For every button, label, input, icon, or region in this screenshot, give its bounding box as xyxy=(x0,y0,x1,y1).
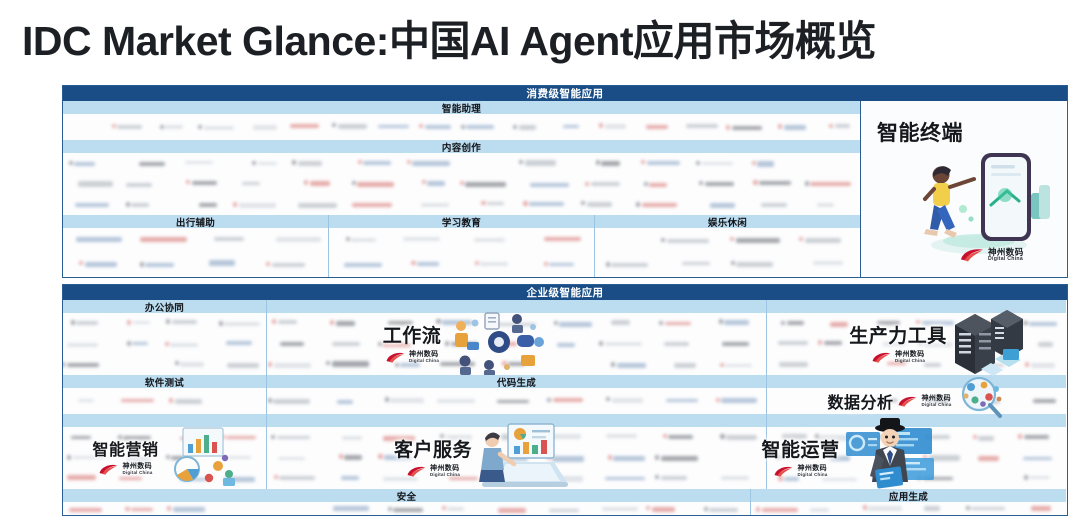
vendor-logo-mark xyxy=(606,397,610,402)
vendor-logo xyxy=(180,362,204,367)
vendor-logo xyxy=(272,263,306,267)
vendor-logo-mark xyxy=(326,361,330,366)
consumer-section-header: 消费级智能应用 xyxy=(63,86,1067,101)
vendor-logo xyxy=(499,342,517,346)
subheader-software-testing: 软件测试 xyxy=(63,375,266,388)
vendor-logo xyxy=(617,363,646,368)
vendor-logo-mark xyxy=(71,320,75,325)
subheader-code-generation: 代码生成 xyxy=(267,375,766,388)
vendor-logo xyxy=(242,182,260,185)
vendor-logo-mark xyxy=(233,202,237,207)
vendor-logo xyxy=(1024,435,1050,439)
vendor-logo xyxy=(557,343,575,347)
vendor-logo xyxy=(228,456,251,460)
vendor-logo xyxy=(131,508,153,511)
vendor-logo-mark xyxy=(442,506,446,511)
vendor-logo xyxy=(333,506,369,510)
vendor-logo xyxy=(337,400,354,405)
vendor-logo xyxy=(787,321,805,325)
vendor-logo-mark xyxy=(475,261,479,266)
vendor-logo xyxy=(709,508,738,513)
column-divider xyxy=(750,489,751,516)
vendor-logo xyxy=(123,436,151,440)
vendor-logo-mark xyxy=(805,181,809,186)
vendor-logo xyxy=(278,320,298,324)
vendor-logo xyxy=(810,182,851,186)
vendor-logo-mark xyxy=(388,507,392,512)
vendor-logo-mark xyxy=(655,475,659,480)
vendor-logo xyxy=(336,321,356,326)
vendor-logo-mark xyxy=(608,455,612,460)
vendor-logo-mark xyxy=(704,507,708,512)
vendor-logo-mark xyxy=(492,456,496,461)
vendor-logo-mark xyxy=(378,342,382,347)
vendor-logo xyxy=(417,262,439,266)
vendor-logo xyxy=(277,436,310,440)
vendor-logo-mark xyxy=(221,435,225,440)
vendor-logo xyxy=(145,263,174,267)
logo-row-app-generation xyxy=(751,502,1066,516)
vendor-logo xyxy=(451,342,479,346)
vendor-logo-mark xyxy=(140,262,144,267)
vendor-logo-mark xyxy=(252,161,256,166)
vendor-logo-mark xyxy=(719,319,723,324)
vendor-logo xyxy=(253,125,278,130)
vendor-logo xyxy=(76,321,97,325)
column-divider xyxy=(266,300,267,489)
vendor-logo xyxy=(170,343,198,348)
vendor-logo xyxy=(933,399,950,403)
subheader-row2-right xyxy=(767,375,1066,388)
vendor-logo-mark xyxy=(419,124,423,129)
vendor-logo xyxy=(1038,342,1054,347)
vendor-logo-mark xyxy=(339,454,343,459)
vendor-logo-mark xyxy=(596,160,600,165)
vendor-logo xyxy=(813,261,843,265)
logo-row-smart-assistant xyxy=(63,114,860,140)
vendor-logo xyxy=(646,125,668,129)
vendor-logo-mark xyxy=(815,434,819,439)
enterprise-section-header: 企业级智能应用 xyxy=(63,285,1067,300)
vendor-logo xyxy=(1029,322,1057,327)
vendor-logo xyxy=(127,456,151,461)
vendor-logo xyxy=(192,181,217,186)
vendor-logo xyxy=(497,323,536,326)
vendor-logo-mark xyxy=(166,319,170,324)
vendor-logo xyxy=(1031,363,1056,368)
vendor-logo-mark xyxy=(781,321,785,326)
vendor-logo-mark xyxy=(926,435,930,440)
vendor-logo xyxy=(421,203,449,207)
vendor-logo xyxy=(721,398,756,403)
vendor-logo xyxy=(274,363,311,368)
vendor-logo-mark xyxy=(818,340,822,345)
vendor-logo xyxy=(487,202,504,206)
column-divider xyxy=(328,215,329,277)
vendor-logo xyxy=(351,238,376,242)
vendor-logo xyxy=(924,342,952,347)
logo-row-travel-assist xyxy=(63,228,328,276)
vendor-logo xyxy=(474,238,505,242)
vendor-logo xyxy=(71,436,91,440)
vendor-logo xyxy=(924,506,940,511)
vendor-logo xyxy=(722,342,749,346)
subheader-row3-middle xyxy=(267,414,766,427)
vendor-logo xyxy=(710,203,735,208)
vendor-logo-mark xyxy=(395,363,399,368)
swoosh-icon xyxy=(959,247,985,263)
vendor-logo-mark xyxy=(606,262,610,267)
vendor-logo xyxy=(736,262,773,267)
vendor-logo xyxy=(605,342,643,346)
vendor-logo-mark xyxy=(659,321,663,326)
vendor-logo xyxy=(449,477,478,480)
vendor-logo-mark xyxy=(696,161,700,166)
vendor-logo-mark xyxy=(976,321,980,326)
vendor-logo-mark xyxy=(460,181,464,186)
vendor-logo xyxy=(298,203,337,208)
vendor-logo-mark xyxy=(167,506,171,511)
vendor-logo xyxy=(131,203,148,207)
vendor-logo xyxy=(563,125,579,128)
vendor-logo-mark xyxy=(63,362,65,367)
vendor-logo xyxy=(606,434,637,438)
vendor-logo-mark xyxy=(513,125,517,130)
vendor-logo xyxy=(652,507,675,512)
vendor-logo-mark xyxy=(118,435,122,440)
vendor-logo xyxy=(668,435,693,440)
logo-row-code-generation xyxy=(267,388,766,414)
vendor-logo xyxy=(1029,476,1050,480)
vendor-logo xyxy=(383,343,411,347)
vendor-logo-mark xyxy=(876,398,880,403)
vendor-logo xyxy=(437,399,475,403)
subheader-travel-assist: 出行辅助 xyxy=(63,215,328,228)
vendor-logo-mark xyxy=(519,160,523,165)
vendor-logo-mark xyxy=(274,475,278,480)
vendor-logo-mark xyxy=(644,182,648,187)
subheader-learning-education: 学习教育 xyxy=(329,215,594,228)
vendor-logo xyxy=(705,182,734,186)
vendor-logo xyxy=(553,398,583,402)
vendor-logo xyxy=(497,457,528,461)
vendor-logo xyxy=(779,362,808,367)
vendor-logo xyxy=(185,161,213,165)
vendor-logo xyxy=(1033,399,1056,403)
vendor-logo xyxy=(204,126,235,131)
vendor-logo-mark xyxy=(385,397,389,402)
vendor-logo xyxy=(332,342,360,346)
vendor-logo xyxy=(199,203,217,208)
vendor-logo xyxy=(67,343,98,348)
subheader-content-creation: 内容创作 xyxy=(63,140,860,153)
vendor-logo xyxy=(664,342,689,346)
vendor-logo-mark xyxy=(753,180,757,185)
subheader-row3-left xyxy=(63,414,266,427)
vendor-logo xyxy=(363,161,391,165)
page-title: IDC Market Glance:中国AI Agent应用市场概览 xyxy=(22,16,1072,66)
vendor-logo xyxy=(75,203,109,207)
vendor-logo-mark xyxy=(776,454,780,459)
vendor-logo xyxy=(525,160,556,165)
side-panel-smart-terminal: 智能终端 xyxy=(861,101,1066,277)
vendor-logo-mark xyxy=(778,476,782,481)
vendor-logo xyxy=(173,507,205,512)
vendor-logo xyxy=(446,435,473,439)
vendor-logo-mark xyxy=(407,160,411,165)
logo-row-smart-operations xyxy=(767,427,1066,489)
vendor-logo xyxy=(736,238,781,243)
vendor-logo xyxy=(393,508,423,513)
vendor-logo xyxy=(556,476,583,481)
brand-name-cn: 神州数码 xyxy=(988,248,1024,257)
vendor-logo xyxy=(180,437,205,440)
vendor-logo xyxy=(280,342,305,346)
vendor-logo xyxy=(877,321,899,325)
vendor-logo-mark xyxy=(716,398,720,403)
vendor-logo xyxy=(822,478,857,482)
vendor-logo xyxy=(981,322,1007,325)
vendor-logo-mark xyxy=(271,435,275,440)
vendor-logo xyxy=(830,456,849,461)
vendor-logo-mark xyxy=(160,125,164,130)
logo-row-office-collaboration xyxy=(63,313,266,375)
vendor-logo-mark xyxy=(268,398,272,403)
vendor-logo-mark xyxy=(266,262,270,267)
logo-row-learning-education xyxy=(329,228,594,276)
vendor-logo xyxy=(666,399,698,402)
vendor-logo xyxy=(352,203,392,207)
vendor-logo xyxy=(759,181,791,185)
logo-row-data-analysis xyxy=(767,388,1066,414)
vendor-logo xyxy=(661,456,699,460)
subheader-row3-right xyxy=(767,414,1066,427)
vendor-logo-mark xyxy=(79,261,83,266)
person-with-phone-illustration xyxy=(907,145,1057,257)
vendor-logo xyxy=(549,263,574,267)
vendor-logo-mark xyxy=(726,125,730,130)
vendor-logo xyxy=(226,341,252,345)
vendor-logo xyxy=(835,124,851,128)
vendor-logo-mark xyxy=(502,361,506,366)
vendor-logo-mark xyxy=(186,180,190,185)
logo-row-software-testing xyxy=(63,388,266,414)
vendor-logo-mark xyxy=(461,125,465,130)
vendor-logo xyxy=(501,434,523,439)
vendor-logo xyxy=(782,455,806,459)
vendor-logo xyxy=(732,126,763,130)
vendor-logo-mark xyxy=(752,161,756,166)
vendor-logo xyxy=(76,237,123,242)
vendor-logo xyxy=(388,321,413,325)
vendor-logo xyxy=(725,364,752,368)
vendor-logo-mark xyxy=(655,455,659,460)
vendor-logo-mark xyxy=(599,341,603,346)
idc-market-glance-infographic: IDC Market Glance:中国AI Agent应用市场概览 消费级智能… xyxy=(0,0,1080,525)
vendor-logo xyxy=(224,322,260,326)
callout-title-smart-terminal: 智能终端 xyxy=(877,117,963,147)
vendor-logo-mark xyxy=(1018,434,1022,439)
vendor-logo xyxy=(341,476,359,480)
vendor-logo xyxy=(649,183,667,188)
vendor-logo-mark xyxy=(699,181,703,186)
vendor-logo xyxy=(830,322,848,327)
vendor-logo-mark xyxy=(1025,362,1029,367)
enterprise-section: 企业级智能应用 办公协同 软件测试 代码生成 xyxy=(62,284,1068,516)
vendor-logo xyxy=(132,342,148,345)
vendor-logo xyxy=(85,262,117,267)
vendor-logo xyxy=(922,321,955,325)
vendor-logo xyxy=(165,125,183,129)
vendor-logo-mark xyxy=(544,262,548,267)
vendor-logo xyxy=(784,477,799,481)
vendor-logo-mark xyxy=(492,322,496,327)
vendor-logo xyxy=(642,203,677,207)
vendor-logo-mark xyxy=(411,261,415,266)
vendor-logo-mark xyxy=(495,476,499,481)
vendor-logo-mark xyxy=(175,361,179,366)
vendor-logo xyxy=(279,476,315,480)
brand-name-en: Digital China xyxy=(988,257,1024,262)
vendor-logo xyxy=(239,203,276,208)
vendor-logo xyxy=(1031,506,1051,511)
vendor-logo-mark xyxy=(973,435,977,440)
vendor-logo xyxy=(276,237,322,242)
vendor-logo-mark xyxy=(646,506,650,511)
vendor-logo xyxy=(332,361,369,366)
vendor-logo xyxy=(67,475,96,480)
vendor-logo xyxy=(724,320,749,325)
subheader-entertainment-leisure: 娱乐休闲 xyxy=(595,215,860,228)
vendor-logo-mark xyxy=(1024,475,1028,480)
vendor-logo-mark xyxy=(330,320,334,325)
vendor-logo-mark xyxy=(436,319,440,324)
vendor-logo xyxy=(552,456,583,461)
vendor-logo xyxy=(310,181,330,186)
vendor-logo-mark xyxy=(165,342,169,347)
vendor-logo-mark xyxy=(198,125,202,130)
vendor-logo xyxy=(702,162,734,166)
vendor-logo-mark xyxy=(799,237,803,242)
vendor-logo xyxy=(78,181,112,186)
vendor-logo xyxy=(757,161,774,166)
vendor-logo-mark xyxy=(523,201,527,206)
vendor-logo xyxy=(224,477,256,482)
vendor-logo-mark xyxy=(304,180,308,185)
vendor-logo xyxy=(868,506,902,511)
vendor-logo-mark xyxy=(720,434,724,439)
vendor-logo xyxy=(175,399,203,404)
vendor-logo xyxy=(119,477,142,480)
subheader-row1-right xyxy=(767,300,1066,313)
vendor-logo xyxy=(971,507,1005,511)
vendor-logo xyxy=(465,182,505,187)
vendor-logo xyxy=(480,262,508,266)
vendor-logo xyxy=(591,182,621,186)
vendor-logo xyxy=(338,124,367,129)
vendor-logo xyxy=(784,125,806,130)
vendor-logo xyxy=(344,455,362,460)
vendor-logo xyxy=(820,435,853,440)
digital-china-logo: 神州数码 Digital China xyxy=(959,247,1024,263)
vendor-logo xyxy=(172,320,197,324)
vendor-logo xyxy=(342,436,363,440)
vendor-logo-mark xyxy=(272,319,276,324)
vendor-logo xyxy=(508,362,525,366)
vendor-logo-mark xyxy=(720,363,724,368)
vendor-logo-mark xyxy=(481,201,485,206)
vendor-logo xyxy=(611,320,631,324)
vendor-logo xyxy=(383,436,416,441)
vendor-logo xyxy=(721,476,749,480)
vendor-logo-mark xyxy=(69,161,73,166)
vendor-logo xyxy=(883,342,906,347)
vendor-logo xyxy=(832,400,847,403)
vendor-logo xyxy=(412,161,450,166)
vendor-logo xyxy=(601,161,620,165)
vendor-logo-mark xyxy=(863,505,867,510)
vendor-logo-mark xyxy=(545,433,549,438)
vendor-logo-mark xyxy=(966,506,970,511)
vendor-logo xyxy=(726,435,758,440)
vendor-logo xyxy=(931,435,950,439)
vendor-logo xyxy=(762,508,798,512)
vendor-logo-mark xyxy=(547,455,551,460)
vendor-logo-mark xyxy=(422,180,426,185)
vendor-logo xyxy=(887,457,907,461)
vendor-logo-mark xyxy=(1023,321,1027,326)
vendor-logo xyxy=(442,320,472,325)
vendor-logo xyxy=(403,237,440,241)
vendor-logo-mark xyxy=(636,202,640,207)
vendor-logo-mark xyxy=(445,341,449,346)
vendor-logo xyxy=(357,182,394,187)
vendor-logo xyxy=(447,507,464,511)
vendor-logo xyxy=(686,124,718,127)
vendor-logo xyxy=(1023,457,1052,460)
vendor-logo xyxy=(805,238,841,243)
vendor-logo xyxy=(923,477,953,481)
vendor-logo xyxy=(885,476,900,480)
vendor-logo xyxy=(214,237,244,240)
vendor-logo-mark xyxy=(493,341,497,346)
vendor-logo xyxy=(383,477,419,481)
vendor-logo xyxy=(440,362,474,366)
vendor-logo xyxy=(665,322,691,326)
vendor-logo xyxy=(549,509,579,513)
vendor-logo xyxy=(667,239,709,243)
vendor-logo-mark xyxy=(166,455,170,460)
vendor-logo xyxy=(661,476,687,480)
vendor-logo xyxy=(674,363,696,368)
vendor-logo-mark xyxy=(127,320,131,325)
vendor-logo xyxy=(140,237,187,242)
vendor-logo-mark xyxy=(730,237,734,242)
vendor-logo xyxy=(466,125,494,129)
vendor-logo-mark xyxy=(126,202,130,207)
vendor-logo xyxy=(978,456,999,461)
column-divider xyxy=(766,300,767,489)
vendor-logo xyxy=(226,436,256,440)
vendor-logo xyxy=(924,363,940,367)
vendor-logo xyxy=(970,364,1004,368)
vendor-logo-mark xyxy=(756,507,760,512)
subheader-row1-middle xyxy=(267,300,766,313)
vendor-logo xyxy=(824,341,843,345)
subheader-smart-assistant: 智能助理 xyxy=(63,101,860,114)
vendor-logo-mark xyxy=(661,238,665,243)
vendor-logo xyxy=(605,124,627,128)
